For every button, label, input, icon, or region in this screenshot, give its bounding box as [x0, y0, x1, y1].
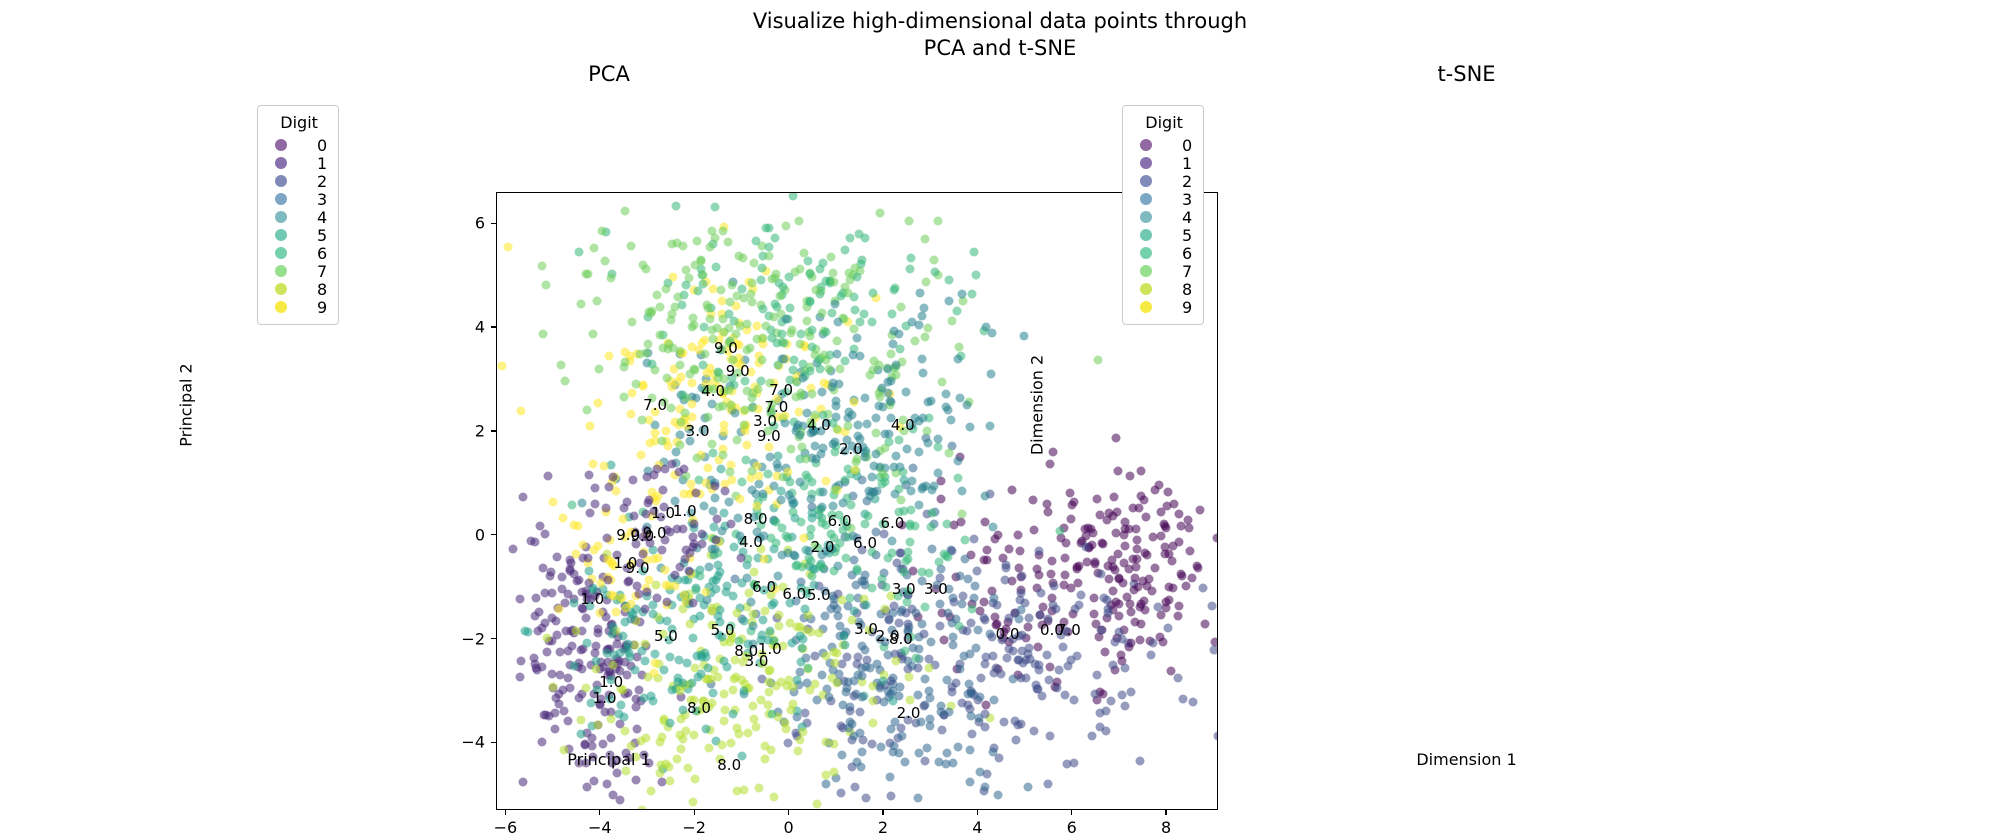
figure-canvas: Visualize high-dimensional data points t…: [0, 0, 2000, 800]
legend-swatch-icon: [1140, 157, 1152, 169]
y-tick-label: 4: [475, 318, 485, 337]
legend-item-label: 0: [1182, 136, 1192, 155]
legend-item[interactable]: 4: [269, 208, 327, 226]
legend-item-label: 9: [1182, 298, 1192, 317]
legend-item[interactable]: 1: [1134, 154, 1192, 172]
legend-item[interactable]: 6: [1134, 244, 1192, 262]
cluster-annotation: 3.0: [745, 652, 769, 670]
x-tick-label: −2: [682, 818, 706, 837]
cluster-annotation: 1.0: [593, 689, 617, 707]
x-tick-label: 0: [783, 818, 793, 837]
tsne-y-axis-label: Dimension 2: [1028, 355, 1047, 455]
legend-item[interactable]: 7: [269, 262, 327, 280]
subplot-tsne-title: t-SNE: [1113, 62, 1820, 86]
legend-item-label: 3: [317, 190, 327, 209]
cluster-annotation: 9.0: [643, 524, 667, 542]
legend-item[interactable]: 8: [269, 280, 327, 298]
pca-axes-area[interactable]: 7.09.09.04.07.07.03.03.09.04.04.02.01.01…: [496, 192, 1218, 810]
legend-swatch-icon: [275, 139, 287, 151]
legend-item[interactable]: 1: [269, 154, 327, 172]
cluster-annotation: 4.0: [701, 382, 725, 400]
y-tick-mark: [491, 223, 496, 224]
cluster-annotation: 2.0: [839, 440, 863, 458]
legend-item-label: 3: [1182, 190, 1192, 209]
cluster-annotation: 5.0: [711, 621, 735, 639]
legend-item[interactable]: 5: [1134, 226, 1192, 244]
cluster-annotation: 5.0: [654, 627, 678, 645]
cluster-annotation: 4.0: [739, 533, 763, 551]
legend-swatch-icon: [1140, 139, 1152, 151]
legend-swatch-icon: [275, 175, 287, 187]
legend-item[interactable]: 9: [1134, 298, 1192, 316]
x-tick-mark: [694, 810, 695, 815]
legend-item-label: 2: [317, 172, 327, 191]
legend-swatch-icon: [1140, 193, 1152, 205]
y-tick-mark: [491, 742, 496, 743]
legend-item-label: 1: [1182, 154, 1192, 173]
cluster-annotation: 2.0: [897, 704, 921, 722]
legend-item-label: 5: [1182, 226, 1192, 245]
legend-item[interactable]: 4: [1134, 208, 1192, 226]
legend-item-label: 4: [317, 208, 327, 227]
legend-swatch-icon: [275, 247, 287, 259]
figure-suptitle: Visualize high-dimensional data points t…: [0, 8, 2000, 62]
cluster-annotation: 3.0: [892, 580, 916, 598]
legend-item[interactable]: 9: [269, 298, 327, 316]
cluster-annotation: 2.0: [811, 538, 835, 556]
y-tick-mark: [491, 638, 496, 639]
legend-item-label: 4: [1182, 208, 1192, 227]
legend-item[interactable]: 8: [1134, 280, 1192, 298]
legend-swatch-icon: [275, 265, 287, 277]
y-tick-label: −2: [461, 629, 485, 648]
cluster-annotation: 3.0: [854, 620, 878, 638]
pca-legend[interactable]: Digit 0123456789: [257, 105, 339, 325]
pca-y-axis-label: Principal 2: [177, 363, 196, 446]
x-tick-mark: [505, 810, 506, 815]
y-tick-label: 2: [475, 421, 485, 440]
x-tick-mark: [1165, 810, 1166, 815]
legend-swatch-icon: [275, 193, 287, 205]
legend-item[interactable]: 7: [1134, 262, 1192, 280]
y-tick-mark: [491, 534, 496, 535]
legend-item[interactable]: 3: [269, 190, 327, 208]
cluster-annotation: 8.0: [744, 510, 768, 528]
cluster-annotation: 9.0: [726, 362, 750, 380]
y-tick-label: 0: [475, 525, 485, 544]
x-tick-mark: [977, 810, 978, 815]
legend-item-label: 9: [317, 298, 327, 317]
legend-item[interactable]: 3: [1134, 190, 1192, 208]
legend-swatch-icon: [1140, 175, 1152, 187]
legend-item-label: 1: [317, 154, 327, 173]
legend-item[interactable]: 0: [269, 136, 327, 154]
cluster-annotation: 4.0: [807, 416, 831, 434]
x-tick-label: 6: [1067, 818, 1077, 837]
x-tick-label: −6: [494, 818, 518, 837]
legend-swatch-icon: [275, 229, 287, 241]
cluster-annotation: 7.0: [643, 396, 667, 414]
legend-swatch-icon: [1140, 247, 1152, 259]
legend-item[interactable]: 2: [269, 172, 327, 190]
cluster-annotation: 6.0: [782, 585, 806, 603]
legend-item-label: 7: [1182, 262, 1192, 281]
tsne-legend[interactable]: Digit 0123456789: [1122, 105, 1204, 325]
y-tick-label: 6: [475, 214, 485, 233]
x-tick-mark: [882, 810, 883, 815]
cluster-annotation: 6.0: [880, 514, 904, 532]
y-tick-mark: [491, 430, 496, 431]
cluster-annotation: 9.0: [714, 339, 738, 357]
cluster-annotation: 8.0: [687, 699, 711, 717]
cluster-annotation: 6.0: [853, 534, 877, 552]
legend-swatch-icon: [1140, 283, 1152, 295]
legend-item-label: 0: [317, 136, 327, 155]
legend-swatch-icon: [275, 211, 287, 223]
cluster-annotation: 5.0: [807, 586, 831, 604]
legend-item[interactable]: 2: [1134, 172, 1192, 190]
pca-legend-title: Digit: [271, 113, 327, 132]
cluster-annotation: 8.0: [889, 630, 913, 648]
x-tick-label: −4: [588, 818, 612, 837]
subplot-tsne: t-SNE 4.04.04.05.05.05.04.09.07.07.09.02…: [1113, 96, 1820, 714]
legend-item-label: 6: [1182, 244, 1192, 263]
legend-swatch-icon: [1140, 211, 1152, 223]
legend-item-label: 8: [1182, 280, 1192, 299]
cluster-annotation: 1.0: [673, 502, 697, 520]
legend-swatch-icon: [1140, 265, 1152, 277]
legend-item-label: 8: [317, 280, 327, 299]
legend-swatch-icon: [1140, 229, 1152, 241]
legend-item-label: 5: [317, 226, 327, 245]
cluster-annotation: 6.0: [752, 578, 776, 596]
cluster-annotation: 1.0: [651, 504, 675, 522]
cluster-annotation: 7.0: [769, 381, 793, 399]
subplot-pca: PCA 7.09.09.04.07.07.03.03.09.04.04.02.0…: [248, 96, 970, 714]
cluster-annotation: 1.0: [580, 590, 604, 608]
legend-item-label: 7: [317, 262, 327, 281]
cluster-annotation: 9.0: [757, 427, 781, 445]
cluster-annotation: 6.0: [828, 512, 852, 530]
pca-x-axis-label: Principal 1: [248, 750, 970, 769]
legend-swatch-icon: [275, 157, 287, 169]
x-tick-label: 8: [1161, 818, 1171, 837]
cluster-annotation: 9.0: [626, 559, 650, 577]
x-tick-mark: [599, 810, 600, 815]
cluster-annotation: 3.0: [686, 422, 710, 440]
legend-swatch-icon: [275, 301, 287, 313]
tsne-legend-title: Digit: [1136, 113, 1192, 132]
tsne-legend-rows: 0123456789: [1134, 136, 1192, 316]
legend-item[interactable]: 6: [269, 244, 327, 262]
legend-item[interactable]: 5: [269, 226, 327, 244]
legend-item[interactable]: 0: [1134, 136, 1192, 154]
cluster-annotation: 7.0: [1057, 621, 1081, 639]
cluster-annotation: 3.0: [924, 580, 948, 598]
subplot-pca-title: PCA: [248, 62, 970, 86]
x-tick-mark: [1071, 810, 1072, 815]
y-tick-mark: [491, 326, 496, 327]
cluster-annotation: 4.0: [891, 416, 915, 434]
pca-annotation-layer: 7.09.09.04.07.07.03.03.09.04.04.02.01.01…: [497, 193, 1217, 809]
x-tick-label: 4: [972, 818, 982, 837]
legend-swatch-icon: [1140, 301, 1152, 313]
legend-item-label: 6: [317, 244, 327, 263]
legend-item-label: 2: [1182, 172, 1192, 191]
x-tick-label: 2: [878, 818, 888, 837]
pca-legend-rows: 0123456789: [269, 136, 327, 316]
x-tick-mark: [788, 810, 789, 815]
legend-swatch-icon: [275, 283, 287, 295]
tsne-x-axis-label: Dimension 1: [1113, 750, 1820, 769]
cluster-annotation: 0.0: [996, 625, 1020, 643]
